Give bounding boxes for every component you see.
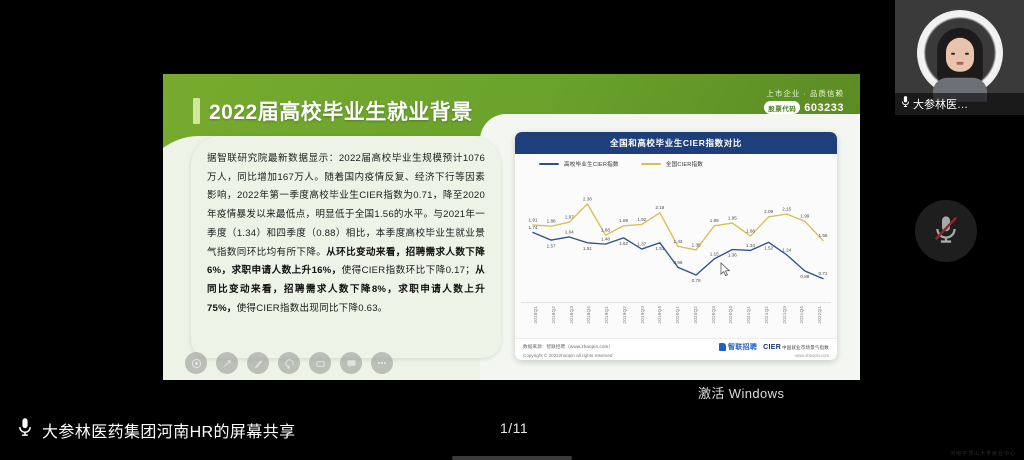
undo-button[interactable]: [278, 352, 300, 374]
x-tick-label: 2020Q1: [675, 306, 680, 324]
microphone-muted-icon: [932, 213, 960, 250]
svg-text:2.18: 2.18: [655, 205, 664, 210]
legend-item-1: 全国CIER指数: [641, 160, 703, 168]
svg-text:1.36: 1.36: [728, 253, 737, 258]
x-tick-label: 2021Q3: [782, 306, 787, 324]
legend-swatch-blue: [539, 163, 559, 166]
chart-url: www.zhaopin.com: [795, 353, 829, 358]
x-tick-label: 2018Q2: [551, 306, 556, 324]
share-status-label: 大参林医药集团河南HR的屏幕共享: [42, 418, 296, 442]
figure-mouth: [956, 61, 963, 64]
x-tick-label: 2020Q2: [693, 306, 698, 324]
laser-pointer-button[interactable]: [216, 352, 238, 374]
chart-copyright: Copyright © 2022zhaopin all rights reser…: [523, 353, 612, 358]
more-options-button[interactable]: [371, 352, 393, 374]
x-tick-label: 2021Q1: [746, 306, 751, 324]
bottom-status-bar: 大参林医药集团河南HR的屏幕共享 1/11: [0, 405, 1024, 460]
slide-title: 2022届高校毕业生就业背景: [209, 96, 473, 126]
svg-text:2.15: 2.15: [782, 207, 791, 212]
participant-name: 大参林医…: [913, 96, 968, 112]
legend-label-1: 全国CIER指数: [666, 160, 703, 168]
svg-text:1.34: 1.34: [746, 243, 755, 248]
svg-text:0.71: 0.71: [819, 271, 828, 276]
x-tick-label: 2019Q1: [604, 306, 609, 324]
cier-chart-card: 全国和高校毕业生CIER指数对比 高校毕业生CIER指数 全国CIER指数: [515, 132, 837, 360]
svg-text:1.37: 1.37: [637, 241, 646, 246]
svg-text:0.79: 0.79: [692, 278, 701, 283]
brand-stock-group: 股票代码 603233: [764, 101, 844, 114]
comment-button[interactable]: [340, 352, 362, 374]
body-paragraph: 据智联研究院最新数据显示：2022届高校毕业生规模预计1076万人，同比增加16…: [207, 153, 485, 258]
chart-svg: 1.741.571.641.511.481.621.371.510.960.79…: [515, 168, 837, 302]
brand-tagline: 上市企业 · 品质信赖: [764, 88, 844, 99]
x-tick-label: 2019Q3: [640, 306, 645, 324]
chart-plot-area: 高校毕业生CIER指数 全国CIER指数 1.741.571.641.511.4…: [515, 154, 837, 338]
x-tick-label: 2022Q1: [817, 306, 822, 324]
home-indicator: [452, 456, 572, 460]
zhaopin-logo: 智联招聘: [719, 342, 757, 352]
mute-toggle-button[interactable]: [915, 200, 977, 262]
svg-text:1.51: 1.51: [655, 246, 664, 251]
svg-text:1.88: 1.88: [547, 219, 556, 224]
pen-tool-button[interactable]: [185, 352, 207, 374]
x-tick-label: 2018Q4: [586, 306, 591, 324]
body-tail-2: 使得CIER指数出现同比下降0.63。: [237, 303, 388, 314]
svg-text:1.56: 1.56: [819, 233, 828, 238]
svg-text:1.24: 1.24: [782, 247, 791, 252]
page-indicator: 1/11: [500, 420, 528, 436]
figure-eye-left: [951, 52, 955, 54]
figure-eye-right: [965, 52, 969, 54]
chart-lines: 1.741.571.641.511.481.621.371.510.960.79…: [515, 168, 837, 302]
activation-title: 激活 Windows: [698, 383, 819, 402]
meeting-screen-share-app: 2022届高校毕业生就业背景 上市企业 · 品质信赖 股票代码 603233 据…: [0, 0, 1024, 460]
svg-text:1.66: 1.66: [746, 228, 755, 233]
figure-face: [946, 37, 974, 71]
svg-text:2.38: 2.38: [583, 196, 592, 201]
chart-footer: 数据来源：智联招聘（www.zhaopin.com） 智联招聘 CIER中国就业…: [515, 338, 837, 360]
annotation-toolbar[interactable]: [185, 352, 393, 374]
legend-swatch-gold: [641, 163, 661, 166]
zhaopin-logo-text: 智联招聘: [728, 342, 757, 352]
svg-text:1.52: 1.52: [764, 246, 773, 251]
chart-footer-logos: 智联招聘 CIER中国就业市场景气指数: [719, 342, 829, 352]
eraser-button[interactable]: [309, 352, 331, 374]
svg-text:1.57: 1.57: [547, 243, 556, 248]
svg-text:0.96: 0.96: [674, 260, 683, 265]
slide-text-card: 据智联研究院最新数据显示：2022届高校毕业生规模预计1076万人，同比增加16…: [191, 136, 501, 358]
svg-text:1.15: 1.15: [710, 251, 719, 256]
participant-name-bar: 大参林医…: [895, 93, 1024, 115]
svg-text:1.51: 1.51: [583, 246, 592, 251]
svg-text:1.89: 1.89: [619, 218, 628, 223]
microphone-icon: [18, 417, 32, 442]
svg-text:1.99: 1.99: [800, 214, 809, 219]
brand-tag: 上市企业 · 品质信赖 股票代码 603233: [764, 88, 844, 114]
svg-text:1.95: 1.95: [728, 216, 737, 221]
participant-video-tile[interactable]: 大参林医…: [895, 0, 1024, 115]
svg-text:1.35: 1.35: [692, 242, 701, 247]
svg-text:0.88: 0.88: [800, 274, 809, 279]
svg-text:2.09: 2.09: [764, 209, 773, 214]
x-tick-label: 2020Q3: [711, 306, 716, 324]
brand-stock-pill: 股票代码: [764, 101, 800, 114]
svg-text:1.64: 1.64: [565, 229, 574, 234]
x-tick-label: 2018Q3: [569, 306, 574, 324]
presentation-slide: 2022届高校毕业生就业背景 上市企业 · 品质信赖 股票代码 603233 据…: [163, 74, 860, 380]
svg-text:1.48: 1.48: [601, 237, 610, 242]
slide-title-group: 2022届高校毕业生就业背景: [193, 96, 473, 126]
svg-text:1.62: 1.62: [619, 241, 628, 246]
slide-body-text: 据智联研究院最新数据显示：2022届高校毕业生规模预计1076万人，同比增加16…: [207, 150, 485, 318]
x-tick-label: 2021Q2: [764, 306, 769, 324]
x-tick-label: 2020Q4: [728, 306, 733, 324]
body-tail-1: 使得CIER指数环比下降0.17；: [342, 265, 475, 276]
chart-footer-row-1: 数据来源：智联招聘（www.zhaopin.com） 智联招聘 CIER中国就业…: [523, 342, 829, 352]
brand-stock-code: 603233: [804, 102, 844, 114]
cier-logo-text: CIER: [763, 344, 781, 351]
svg-text:1.43: 1.43: [674, 239, 683, 244]
zhaopin-logo-mark: [719, 343, 726, 351]
chart-source-text: 数据来源：智联招聘（www.zhaopin.com）: [523, 344, 613, 350]
svg-text:1.91: 1.91: [529, 217, 538, 222]
highlighter-button[interactable]: [247, 352, 269, 374]
x-tick-label: 2019Q2: [622, 306, 627, 324]
cier-logo-sub: 中国就业市场景气指数: [782, 345, 829, 350]
chart-footer-row-2: Copyright © 2022zhaopin all rights reser…: [523, 353, 829, 358]
microphone-icon: [901, 95, 910, 113]
participant-figure: [931, 25, 989, 95]
svg-text:1.74: 1.74: [529, 225, 538, 230]
svg-text:1.92: 1.92: [637, 217, 646, 222]
x-tick-label: 2018Q1: [533, 306, 538, 324]
legend-item-0: 高校毕业生CIER指数: [539, 160, 619, 168]
share-status-group: 大参林医药集团河南HR的屏幕共享: [18, 417, 296, 442]
chart-x-axis: 2018Q12018Q22018Q32018Q42019Q12019Q22019…: [521, 302, 831, 337]
x-tick-label: 2019Q4: [657, 306, 662, 324]
svg-text:1.68: 1.68: [601, 228, 610, 233]
shared-screen-stage[interactable]: 2022届高校毕业生就业背景 上市企业 · 品质信赖 股票代码 603233 据…: [163, 74, 860, 380]
chart-title: 全国和高校毕业生CIER指数对比: [515, 132, 837, 154]
corner-watermark: 河南平顶山大学就业中心: [950, 450, 1016, 457]
legend-label-0: 高校毕业生CIER指数: [564, 160, 619, 168]
svg-text:1.97: 1.97: [565, 215, 574, 220]
cier-logo: CIER中国就业市场景气指数: [763, 344, 829, 351]
title-accent-bar: [193, 98, 200, 124]
chart-legend: 高校毕业生CIER指数 全国CIER指数: [515, 154, 837, 168]
svg-text:1.89: 1.89: [710, 218, 719, 223]
x-tick-label: 2021Q4: [799, 306, 804, 324]
